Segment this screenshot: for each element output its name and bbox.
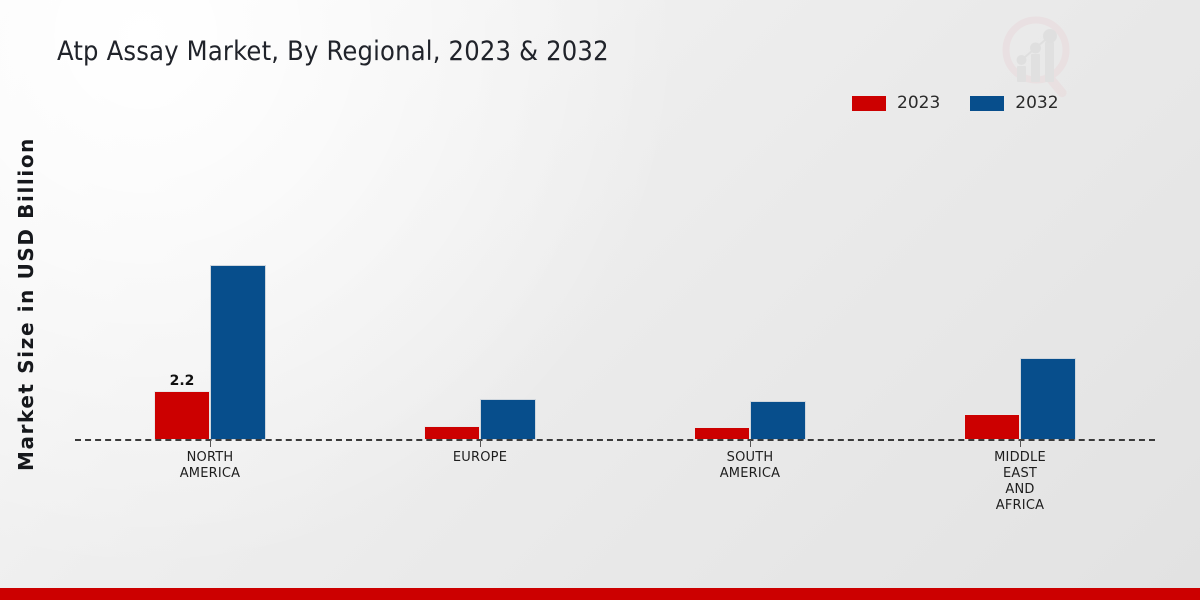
x-axis-tick xyxy=(1020,440,1021,447)
bar-group xyxy=(964,120,1076,440)
legend-swatch-2032 xyxy=(970,96,1004,111)
bar-group xyxy=(424,120,536,440)
bar-2023-middle-east-and-africa[interactable] xyxy=(964,414,1020,440)
bar-group: 2.2 xyxy=(154,120,266,440)
x-axis-label-middle-east-and-africa: MIDDLE EAST AND AFRICA xyxy=(994,450,1046,514)
bar-2023-north-america[interactable]: 2.2 xyxy=(154,391,210,440)
bar-2032-europe[interactable] xyxy=(480,399,536,440)
chart-legend: 2023 2032 xyxy=(852,92,1059,114)
legend-swatch-2023 xyxy=(852,96,886,111)
x-axis-label-europe: EUROPE xyxy=(453,450,507,466)
bar-2032-north-america[interactable] xyxy=(210,265,266,440)
x-axis-tick xyxy=(480,440,481,447)
bar-2032-south-america[interactable] xyxy=(750,401,806,440)
y-axis-title: Market Size in USD Billion xyxy=(14,124,38,484)
chart-title: Atp Assay Market, By Regional, 2023 & 20… xyxy=(57,36,609,67)
legend-item-2023[interactable]: 2023 xyxy=(852,93,940,113)
bar-2023-europe[interactable] xyxy=(424,426,480,440)
legend-item-2032[interactable]: 2032 xyxy=(970,93,1058,113)
x-axis-label-north-america: NORTH AMERICA xyxy=(180,450,241,482)
footer-bar xyxy=(0,588,1200,600)
x-axis-baseline xyxy=(75,439,1155,441)
bar-2032-middle-east-and-africa[interactable] xyxy=(1020,358,1076,440)
legend-label-2023: 2023 xyxy=(897,93,940,113)
chart-canvas: Atp Assay Market, By Regional, 2023 & 20… xyxy=(0,0,1200,600)
x-axis-label-south-america: SOUTH AMERICA xyxy=(720,450,781,482)
x-axis-tick xyxy=(750,440,751,447)
bar-value-label: 2.2 xyxy=(170,373,195,389)
x-axis-tick xyxy=(210,440,211,447)
bar-group xyxy=(694,120,806,440)
plot-area: 2.2 xyxy=(75,120,1155,440)
legend-label-2032: 2032 xyxy=(1015,93,1058,113)
